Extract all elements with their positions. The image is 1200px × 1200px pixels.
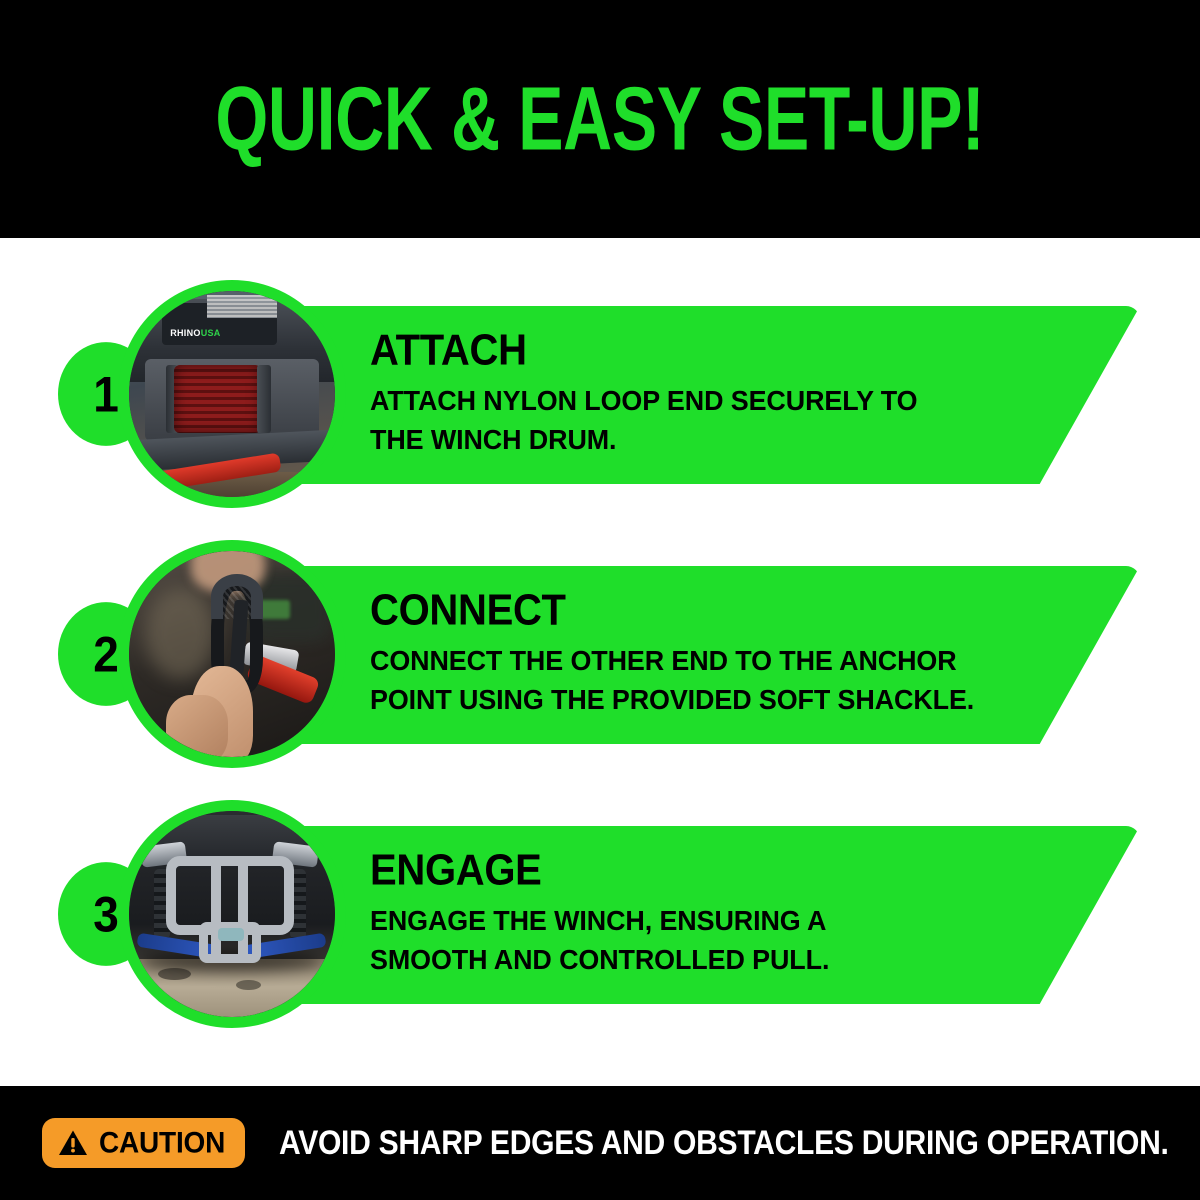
- step-row: CONNECT CONNECT THE OTHER END TO THE ANC…: [0, 540, 1200, 768]
- step-body-line: CONNECT THE OTHER END TO THE ANCHOR: [370, 642, 1071, 681]
- step-banner: ATTACH ATTACH NYLON LOOP END SECURELY TO…: [268, 306, 1140, 484]
- step-photo: RHINO USA: [118, 280, 346, 508]
- step-body-line: ATTACH NYLON LOOP END SECURELY TO: [370, 382, 1071, 421]
- caution-message: AVOID SHARP EDGES AND OBSTACLES DURING O…: [279, 1123, 1169, 1163]
- step-body: CONNECT THE OTHER END TO THE ANCHOR POIN…: [370, 642, 1071, 719]
- utv-bumper-photo: [129, 811, 335, 1017]
- step-body-line: THE WINCH DRUM.: [370, 421, 1071, 460]
- winch-drum-photo: RHINO USA: [129, 291, 335, 497]
- steps-area: ATTACH ATTACH NYLON LOOP END SECURELY TO…: [0, 238, 1200, 1086]
- soft-shackle-photo: [129, 551, 335, 757]
- step-photo: [118, 540, 346, 768]
- caution-badge: CAUTION: [42, 1118, 245, 1168]
- step-body-line: POINT USING THE PROVIDED SOFT SHACKLE.: [370, 681, 1071, 720]
- step-heading: ENGAGE: [370, 848, 1100, 892]
- step-row: ATTACH ATTACH NYLON LOOP END SECURELY TO…: [0, 280, 1200, 508]
- step-banner: CONNECT CONNECT THE OTHER END TO THE ANC…: [268, 566, 1140, 744]
- step-heading: CONNECT: [370, 588, 1100, 632]
- step-body-line: ENGAGE THE WINCH, ENSURING A: [370, 902, 1071, 941]
- step-row: ENGAGE ENGAGE THE WINCH, ENSURING A SMOO…: [0, 800, 1200, 1028]
- caution-bar: CAUTION AVOID SHARP EDGES AND OBSTACLES …: [0, 1086, 1200, 1200]
- brand-name-usa: USA: [201, 329, 221, 338]
- header-band: QUICK & EASY SET-UP!: [0, 0, 1200, 238]
- step-body: ENGAGE THE WINCH, ENSURING A SMOOTH AND …: [370, 902, 1071, 979]
- step-photo: [118, 800, 346, 1028]
- infographic-poster: QUICK & EASY SET-UP! ATTACH ATTACH NYLON…: [0, 0, 1200, 1200]
- caution-label: CAUTION: [99, 1128, 225, 1157]
- step-body-line: SMOOTH AND CONTROLLED PULL.: [370, 941, 1071, 980]
- step-body: ATTACH NYLON LOOP END SECURELY TO THE WI…: [370, 382, 1071, 459]
- rhino-usa-logo: RHINO USA: [170, 322, 269, 345]
- step-banner: ENGAGE ENGAGE THE WINCH, ENSURING A SMOO…: [268, 826, 1140, 1004]
- page-title: QUICK & EASY SET-UP!: [216, 76, 985, 162]
- step-heading: ATTACH: [370, 328, 1100, 372]
- brand-name-rhino: RHINO: [170, 329, 201, 338]
- warning-triangle-icon: [58, 1129, 88, 1157]
